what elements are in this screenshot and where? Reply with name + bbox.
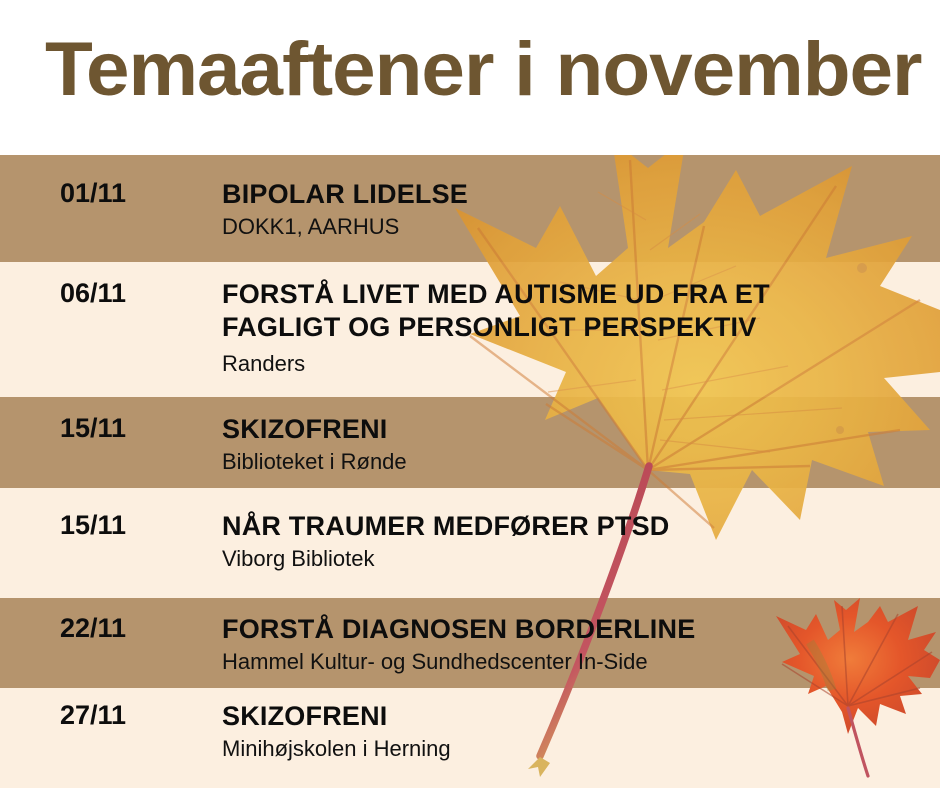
row-venue: Minihøjskolen i Herning <box>222 735 934 762</box>
row-body: FORSTÅ DIAGNOSEN BORDERLINE Hammel Kultu… <box>222 613 934 675</box>
row-date: 15/11 <box>60 413 126 443</box>
row-title: FORSTÅ DIAGNOSEN BORDERLINE <box>222 613 934 646</box>
row-date: 27/11 <box>60 700 126 730</box>
row-venue: DOKK1, AARHUS <box>222 213 934 240</box>
row-body: SKIZOFRENI Minihøjskolen i Herning <box>222 700 934 762</box>
row-body: FORSTÅ LIVET MED AUTISME UD FRA ET FAGLI… <box>222 278 842 377</box>
row-title: BIPOLAR LIDELSE <box>222 178 934 211</box>
row-title: FORSTÅ LIVET MED AUTISME UD FRA ET FAGLI… <box>222 278 842 344</box>
poster-header: Temaaftener i november <box>0 0 940 155</box>
row-title: SKIZOFRENI <box>222 413 934 446</box>
row-venue: Viborg Bibliotek <box>222 545 934 572</box>
row-date: 01/11 <box>60 178 126 208</box>
row-body: NÅR TRAUMER MEDFØRER PTSD Viborg Bibliot… <box>222 510 934 572</box>
row-venue: Biblioteket i Rønde <box>222 448 934 475</box>
row-date: 06/11 <box>60 278 126 308</box>
row-date: 15/11 <box>60 510 126 540</box>
row-date: 22/11 <box>60 613 126 643</box>
page-title: Temaaftener i november <box>45 28 931 112</box>
row-venue: Randers <box>222 350 842 377</box>
row-venue: Hammel Kultur- og Sundhedscenter In-Side <box>222 648 934 675</box>
row-body: SKIZOFRENI Biblioteket i Rønde <box>222 413 934 475</box>
row-title: NÅR TRAUMER MEDFØRER PTSD <box>222 510 934 543</box>
row-body: BIPOLAR LIDELSE DOKK1, AARHUS <box>222 178 934 240</box>
poster-canvas: Temaaftener i november 01/11 BIPOLAR LID… <box>0 0 940 788</box>
row-title: SKIZOFRENI <box>222 700 934 733</box>
